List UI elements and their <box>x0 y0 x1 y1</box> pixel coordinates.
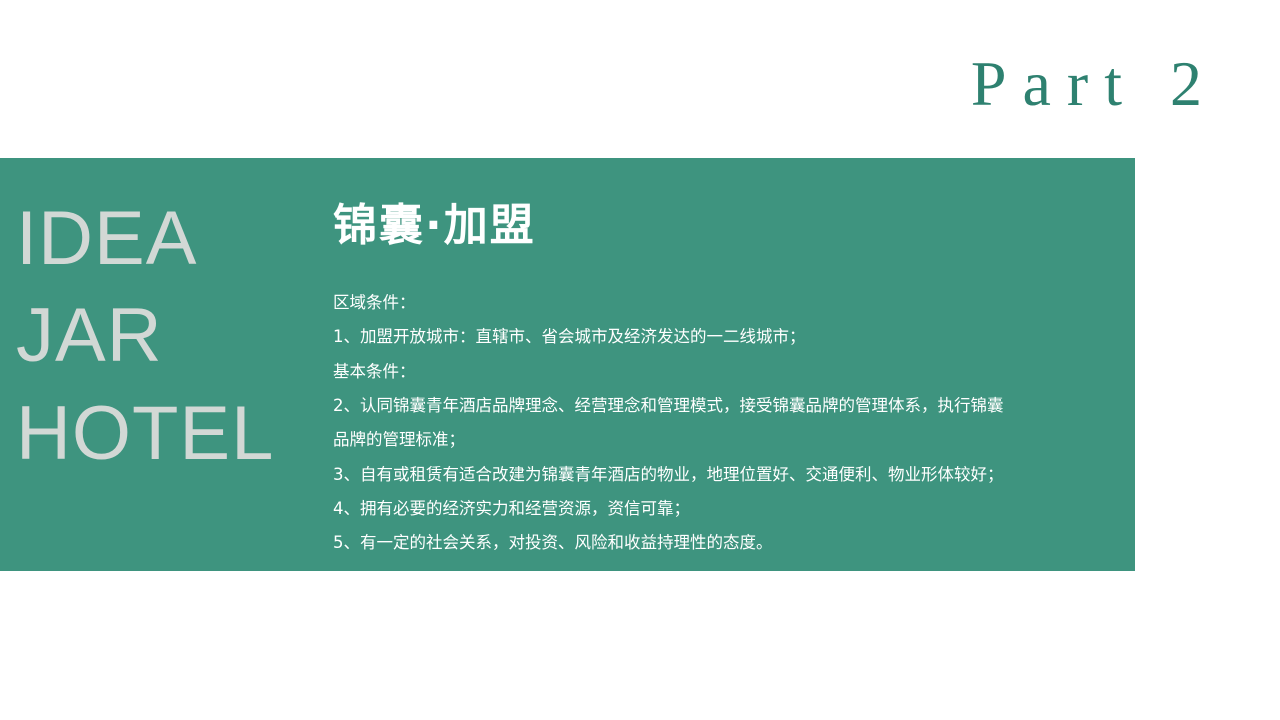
brand-word-line-2: JAR <box>16 287 316 384</box>
part-label: Part 2 <box>971 52 1218 116</box>
brand-word-line-3: HOTEL <box>16 385 316 482</box>
content-panel: IDEA JAR HOTEL 锦囊·加盟 区域条件： 1、加盟开放城市：直辖市、… <box>0 158 1135 571</box>
body-line: 4、拥有必要的经济实力和经营资源，资信可靠； <box>333 492 1123 526</box>
slide-root: Part 2 IDEA JAR HOTEL 锦囊·加盟 区域条件： 1、加盟开放… <box>0 0 1280 720</box>
panel-heading: 锦囊·加盟 <box>333 200 536 253</box>
body-line: 1、加盟开放城市：直辖市、省会城市及经济发达的一二线城市； <box>333 320 1123 354</box>
body-line: 3、自有或租赁有适合改建为锦囊青年酒店的物业，地理位置好、交通便利、物业形体较好… <box>333 458 1123 492</box>
body-line: 5、有一定的社会关系，对投资、风险和收益持理性的态度。 <box>333 526 1123 560</box>
body-line: 区域条件： <box>333 286 1123 320</box>
body-line: 品牌的管理标准； <box>333 423 1123 457</box>
brand-word-line-1: IDEA <box>16 190 316 287</box>
body-line: 基本条件： <box>333 355 1123 389</box>
body-line: 2、认同锦囊青年酒店品牌理念、经营理念和管理模式，接受锦囊品牌的管理体系，执行锦… <box>333 389 1123 423</box>
panel-body-text: 区域条件： 1、加盟开放城市：直辖市、省会城市及经济发达的一二线城市； 基本条件… <box>333 286 1123 561</box>
brand-wordmark: IDEA JAR HOTEL <box>16 190 316 482</box>
